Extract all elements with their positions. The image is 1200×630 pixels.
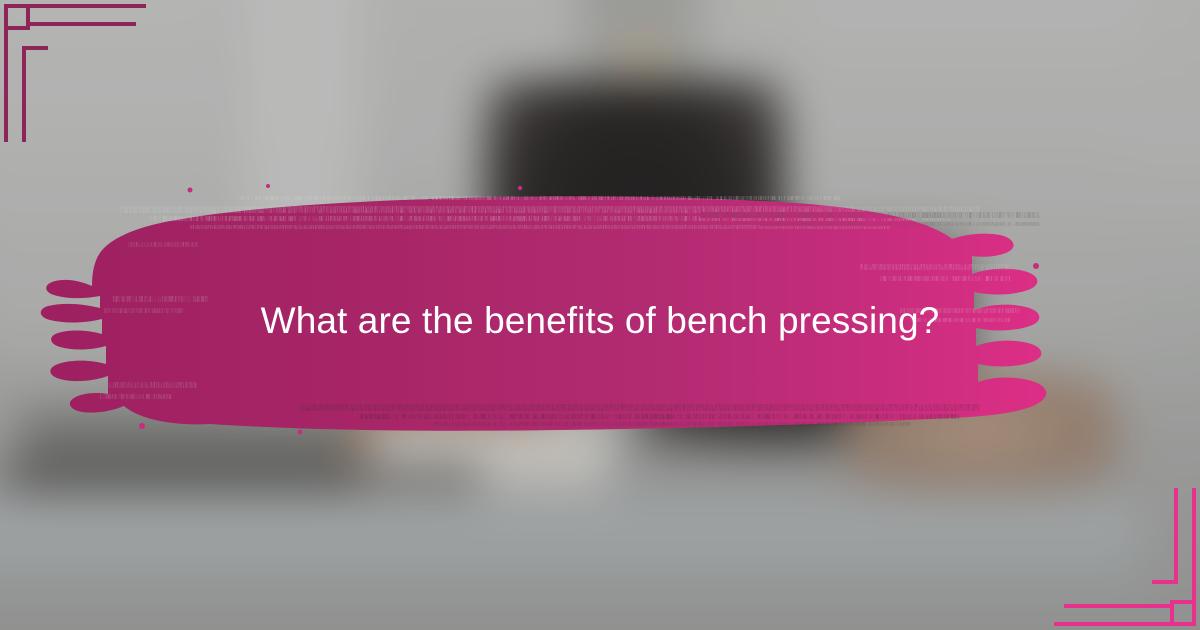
card-headline: What are the benefits of bench pressing? (0, 296, 1200, 346)
social-share-card: What are the benefits of bench pressing? (0, 0, 1200, 630)
